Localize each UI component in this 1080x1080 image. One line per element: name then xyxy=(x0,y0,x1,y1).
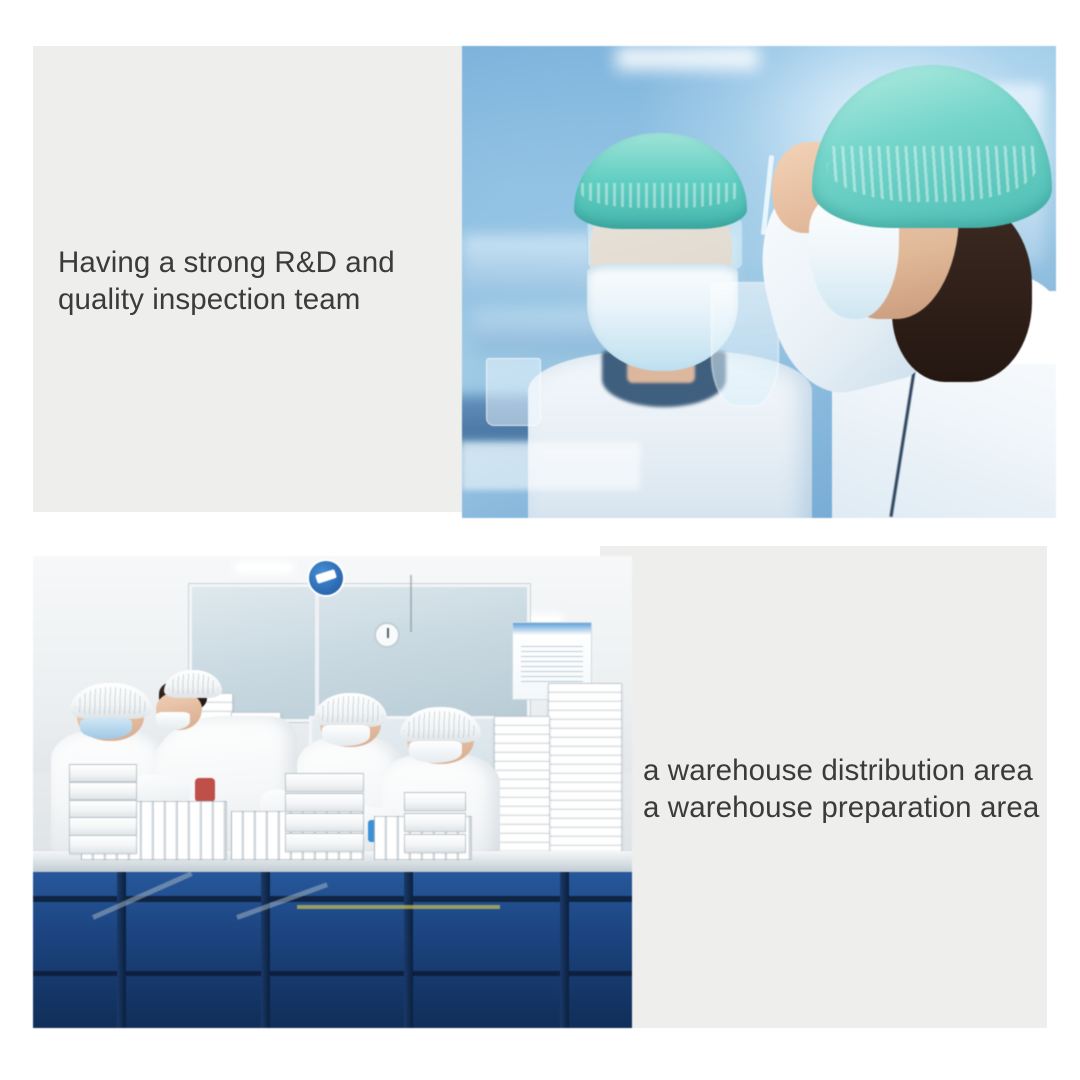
warehouse-caption-line-2: a warehouse preparation area xyxy=(643,789,1043,826)
box xyxy=(69,800,137,818)
box-stack-on-table-a xyxy=(69,764,135,854)
box-stack-tall-right2 xyxy=(494,716,550,855)
lab-worker-profile xyxy=(759,65,1056,518)
table-leg-4 xyxy=(560,872,569,1028)
warehouse-packing-photo xyxy=(33,556,632,1028)
box-stack-on-table-b xyxy=(285,773,363,853)
hair-net xyxy=(164,670,222,698)
box-stack-on-table-c xyxy=(404,792,464,853)
hair-net-cap xyxy=(574,133,747,228)
hair-net xyxy=(70,683,151,719)
box-stack-tall-right xyxy=(548,683,622,855)
table-leg-1 xyxy=(117,872,126,1028)
small-beaker xyxy=(486,358,541,426)
box xyxy=(285,773,365,792)
warehouse-caption-line-1: a warehouse distribution area xyxy=(643,752,1043,789)
box xyxy=(404,792,466,811)
hanging-hose xyxy=(410,575,412,632)
box xyxy=(69,782,137,800)
rd-caption-line-2: quality inspection team xyxy=(58,281,458,318)
box xyxy=(285,813,365,832)
box xyxy=(404,834,466,853)
face-mask xyxy=(156,712,191,730)
slide-canvas: Having a strong R&D and quality inspecti… xyxy=(0,0,1080,1080)
box xyxy=(69,835,137,853)
table-leg-2 xyxy=(261,872,270,1028)
face-mask xyxy=(409,741,462,763)
rd-caption: Having a strong R&D and quality inspecti… xyxy=(58,244,458,318)
lab-rnd-photo xyxy=(462,46,1056,518)
box xyxy=(69,764,137,782)
table-leg-3 xyxy=(404,872,413,1028)
floor-marking-tape xyxy=(297,905,501,909)
blue-circular-sign xyxy=(309,561,343,595)
box xyxy=(285,793,365,812)
bench-tray xyxy=(462,442,640,489)
warehouse-caption: a warehouse distribution area a warehous… xyxy=(643,752,1043,826)
rd-caption-line-1: Having a strong R&D and xyxy=(58,244,458,281)
red-item-background xyxy=(195,778,215,802)
box xyxy=(404,813,466,832)
hair-net-cap xyxy=(812,65,1051,228)
face-mask xyxy=(322,725,369,745)
box xyxy=(69,817,137,835)
hair-net xyxy=(314,693,387,727)
face-mask xyxy=(80,718,133,740)
box xyxy=(285,833,365,852)
ceiling-light-4 xyxy=(237,565,291,570)
hair-net xyxy=(400,707,481,743)
ceiling-light xyxy=(616,46,759,70)
